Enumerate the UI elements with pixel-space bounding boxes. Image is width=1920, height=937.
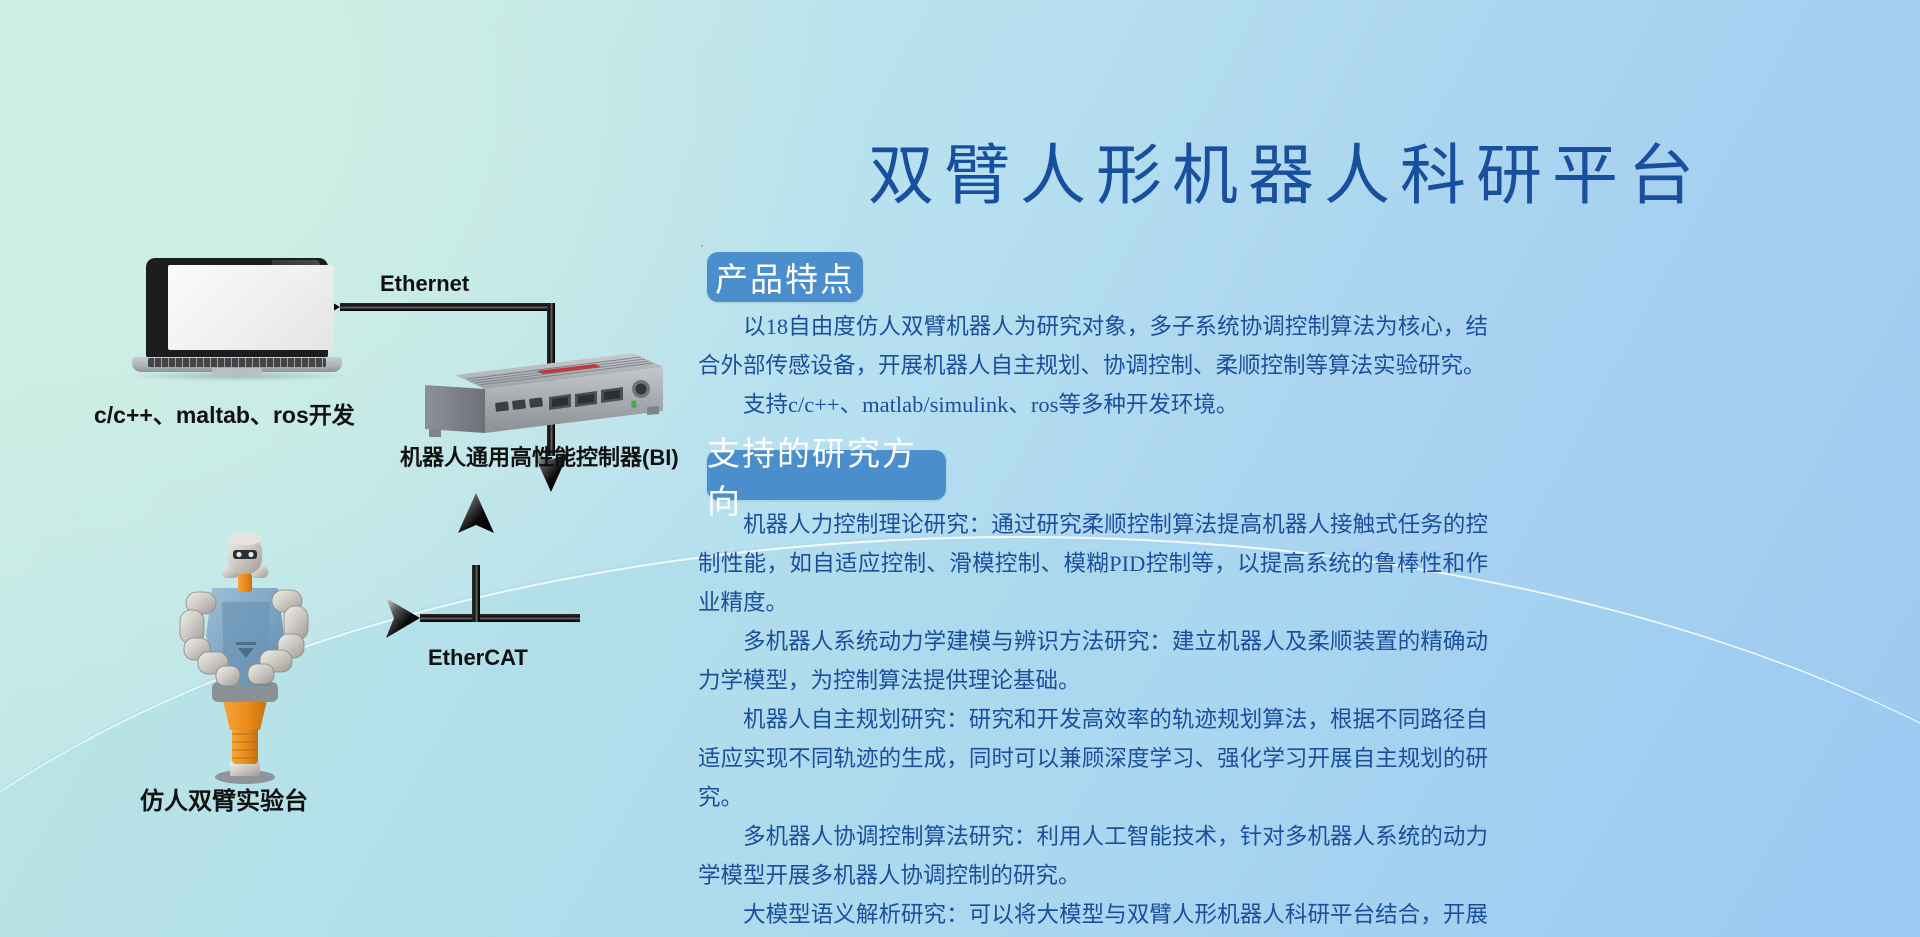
paragraph: 机器人自主规划研究：研究和开发高效率的轨迹规划算法，根据不同路径自适应实现不同轨… bbox=[698, 700, 1488, 817]
paragraph: 多机器人系统动力学建模与辨识方法研究：建立机器人及柔顺装置的精确动力学模型，为控… bbox=[698, 622, 1488, 700]
system-diagram: c/c++、maltab、ros开发 机器人通用高性能控制器(BI) 仿人双臂实… bbox=[0, 0, 690, 937]
section-chip-product-features: 产品特点 bbox=[707, 252, 863, 302]
robot-label: 仿人双臂实验台 bbox=[140, 781, 308, 816]
laptop-illustration bbox=[132, 258, 342, 380]
laptop-keyboard bbox=[148, 358, 326, 367]
controller-svg bbox=[419, 345, 664, 441]
laptop-trackpad bbox=[212, 368, 262, 374]
page-title: 双臂人形机器人科研平台 bbox=[690, 122, 1882, 218]
paragraph: 以18自由度仿人双臂机器人为研究对象，多子系统协调控制算法为核心，结合外部传感设… bbox=[698, 307, 1488, 385]
ethercat-link-label: EtherCAT bbox=[428, 645, 528, 671]
research-directions-body: 机器人力控制理论研究：通过研究柔顺控制算法提高机器人接触式任务的控制性能，如自适… bbox=[698, 505, 1488, 937]
robot-svg bbox=[150, 530, 340, 790]
product-features-body: 以18自由度仿人双臂机器人为研究对象，多子系统协调控制算法为核心，结合外部传感设… bbox=[698, 307, 1488, 424]
paragraph: 机器人力控制理论研究：通过研究柔顺控制算法提高机器人接触式任务的控制性能，如自适… bbox=[698, 505, 1488, 622]
decor-tick: ' bbox=[701, 244, 708, 251]
controller-illustration bbox=[419, 345, 664, 433]
paragraph: 多机器人协调控制算法研究：利用人工智能技术，针对多机器人系统的动力学模型开展多机… bbox=[698, 817, 1488, 895]
section-chip-research-directions: 支持的研究方向 bbox=[707, 450, 946, 500]
ethercat-arrow bbox=[386, 493, 580, 638]
controller-label: 机器人通用高性能控制器(BI) bbox=[400, 440, 679, 472]
poster-canvas: c/c++、maltab、ros开发 机器人通用高性能控制器(BI) 仿人双臂实… bbox=[0, 0, 1920, 937]
laptop-label: c/c++、maltab、ros开发 bbox=[94, 396, 355, 430]
ethernet-link-label: Ethernet bbox=[380, 271, 469, 297]
laptop-lid bbox=[146, 258, 328, 358]
paragraph: 大模型语义解析研究：可以将大模型与双臂人形机器人科研平台结合，开展基于大模型的语… bbox=[698, 895, 1488, 937]
content-panel: 双臂人形机器人科研平台 ' 产品特点 以18自由度仿人双臂机器人为研究对象，多子… bbox=[690, 0, 1920, 937]
paragraph: 支持c/c++、matlab/simulink、ros等多种开发环境。 bbox=[698, 385, 1488, 424]
robot-illustration bbox=[150, 530, 340, 790]
